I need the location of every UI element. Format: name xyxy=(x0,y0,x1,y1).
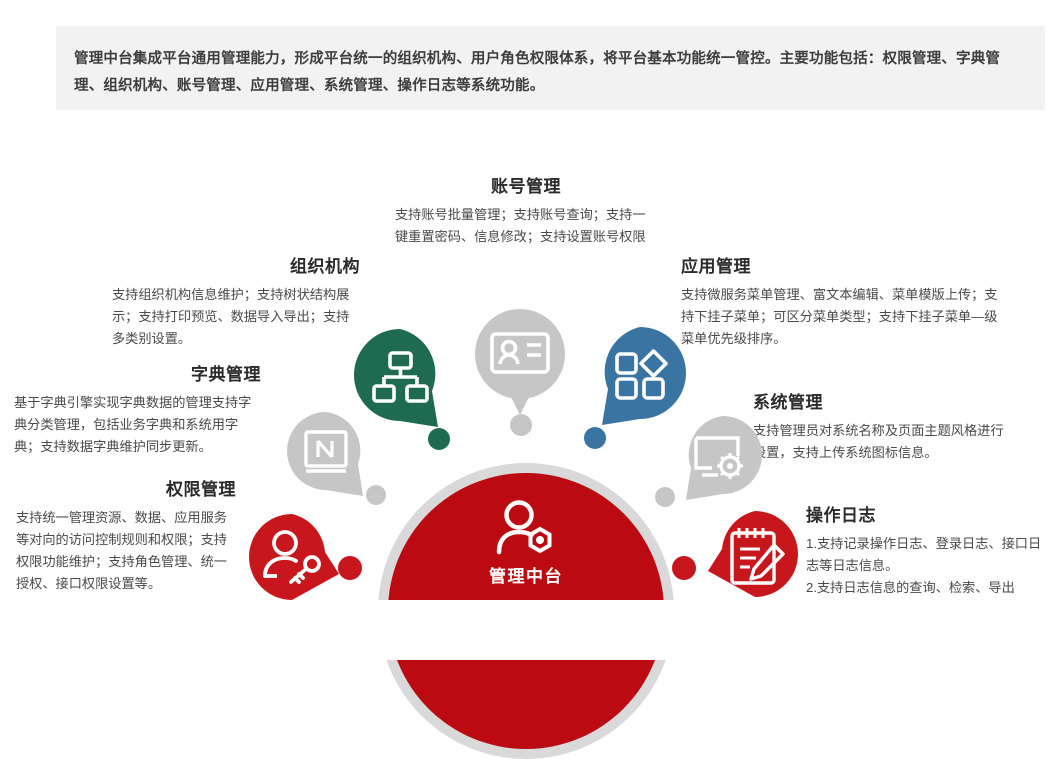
block-dictionary: 字典管理 基于字典引擎实现字典数据的管理支持字典分类管理，包括业务字典和系统用字… xyxy=(14,364,261,458)
block-app: 应用管理 支持微服务菜单管理、富文本编辑、菜单模版上传；支持下挂子菜单；可区分菜… xyxy=(681,256,999,350)
pin-authority[interactable] xyxy=(247,512,347,608)
block-system-title: 系统管理 xyxy=(753,392,1015,414)
block-org-body: 支持组织机构信息维护；支持树状结构展示；支持打印预览、数据导入导出；支持多类别设… xyxy=(112,284,360,350)
pin-dictionary[interactable] xyxy=(285,410,373,502)
block-dictionary-body: 基于字典引擎实现字典数据的管理支持字典分类管理，包括业务字典和系统用字典；支持数… xyxy=(14,392,261,458)
center-dome-label: 管理中台 xyxy=(388,562,664,587)
intro-text: 管理中台集成平台通用管理能力，形成平台统一的组织机构、用户角色权限体系，将平台基… xyxy=(74,46,1021,100)
pin-system-dot xyxy=(655,487,675,507)
block-account: 账号管理 支持账号批量管理；支持账号查询；支持一键重置密码、信息修改；支持设置账… xyxy=(395,176,657,248)
pin-account[interactable] xyxy=(473,307,567,419)
pin-system[interactable] xyxy=(676,414,764,506)
block-dictionary-title: 字典管理 xyxy=(14,364,261,386)
block-authority-body: 支持统一管理资源、数据、应用服务等对向的访问控制规则和权限；支持权限功能维护；支… xyxy=(16,507,236,595)
block-log-title: 操作日志 xyxy=(806,505,1046,527)
pin-authority-dot xyxy=(338,556,362,580)
pin-log-dot xyxy=(672,556,696,580)
block-authority-title: 权限管理 xyxy=(16,479,236,501)
pin-app[interactable] xyxy=(592,325,688,429)
pin-log[interactable] xyxy=(700,509,800,605)
pin-org-dot xyxy=(428,428,450,450)
infographic-canvas: 管理中台集成平台通用管理能力，形成平台统一的组织机构、用户角色权限体系，将平台基… xyxy=(0,0,1051,636)
block-org: 组织机构 支持组织机构信息维护；支持树状结构展示；支持打印预览、数据导入导出；支… xyxy=(112,256,360,350)
pin-account-dot xyxy=(510,414,532,436)
pin-dictionary-dot xyxy=(366,485,386,505)
block-app-title: 应用管理 xyxy=(681,256,999,278)
block-log: 操作日志 1.支持记录操作日志、登录日志、接口日志等日志信息。 2.支持日志信息… xyxy=(806,505,1046,599)
pin-app-dot xyxy=(584,427,606,449)
block-authority: 权限管理 支持统一管理资源、数据、应用服务等对向的访问控制规则和权限；支持权限功… xyxy=(16,479,236,595)
block-system: 系统管理 支持管理员对系统名称及页面主题风格进行设置，支持上传系统图标信息。 xyxy=(753,392,1015,464)
block-account-body: 支持账号批量管理；支持账号查询；支持一键重置密码、信息修改；支持设置账号权限 xyxy=(395,204,657,248)
block-org-title: 组织机构 xyxy=(112,256,360,278)
user-gear-icon xyxy=(496,500,556,556)
block-account-title: 账号管理 xyxy=(395,176,657,198)
block-system-body: 支持管理员对系统名称及页面主题风格进行设置，支持上传系统图标信息。 xyxy=(753,420,1015,464)
dome-bottom-mask xyxy=(330,600,730,660)
intro-banner: 管理中台集成平台通用管理能力，形成平台统一的组织机构、用户角色权限体系，将平台基… xyxy=(56,26,1045,110)
block-app-body: 支持微服务菜单管理、富文本编辑、菜单模版上传；支持下挂子菜单；可区分菜单类型；支… xyxy=(681,284,999,350)
block-log-body: 1.支持记录操作日志、登录日志、接口日志等日志信息。 2.支持日志信息的查询、检… xyxy=(806,533,1046,599)
